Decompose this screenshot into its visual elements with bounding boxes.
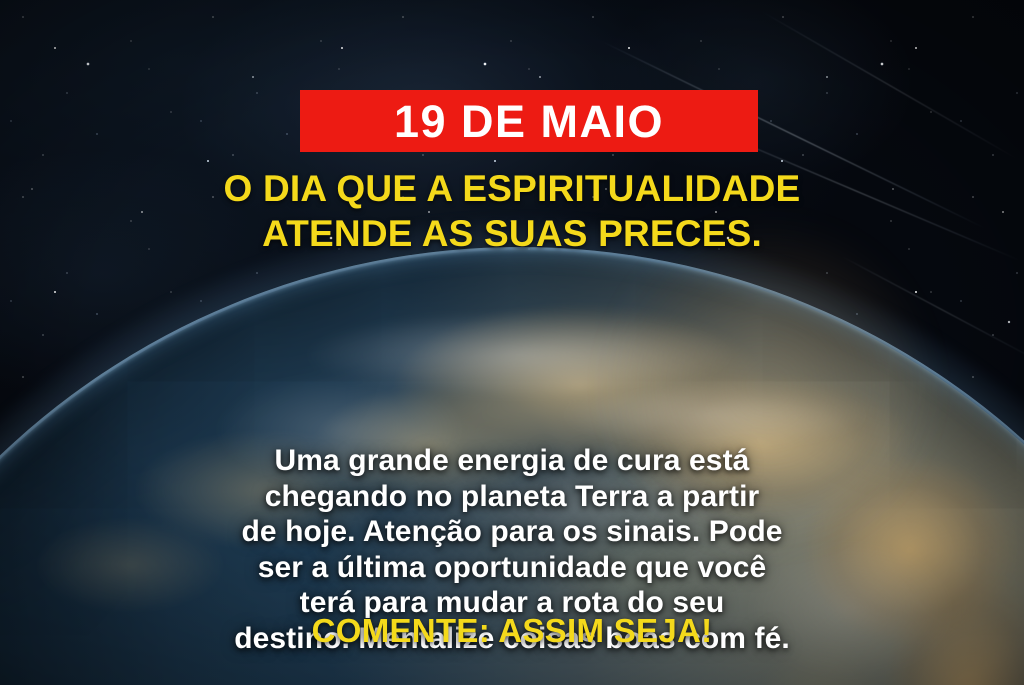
- body-line-2: chegando no planeta Terra a partir: [36, 479, 988, 515]
- headline-line-2: ATENDE AS SUAS PRECES.: [24, 211, 1000, 256]
- call-to-action-label: COMENTE: ASSIM SEJA!: [312, 612, 713, 649]
- date-banner-label: 19 DE MAIO: [394, 99, 664, 144]
- date-banner: 19 DE MAIO: [300, 90, 758, 152]
- body-line-3: de hoje. Atenção para os sinais. Pode: [36, 514, 988, 550]
- headline-line-1: O DIA QUE A ESPIRITUALIDADE: [24, 166, 1000, 211]
- poster-content: 19 DE MAIO O DIA QUE A ESPIRITUALIDADE A…: [0, 0, 1024, 685]
- body-line-4: ser a última oportunidade que você: [36, 550, 988, 586]
- body-line-1: Uma grande energia de cura está: [36, 443, 988, 479]
- headline: O DIA QUE A ESPIRITUALIDADE ATENDE AS SU…: [0, 166, 1024, 256]
- call-to-action: COMENTE: ASSIM SEJA!: [0, 613, 1024, 649]
- poster-image: 19 DE MAIO O DIA QUE A ESPIRITUALIDADE A…: [0, 0, 1024, 685]
